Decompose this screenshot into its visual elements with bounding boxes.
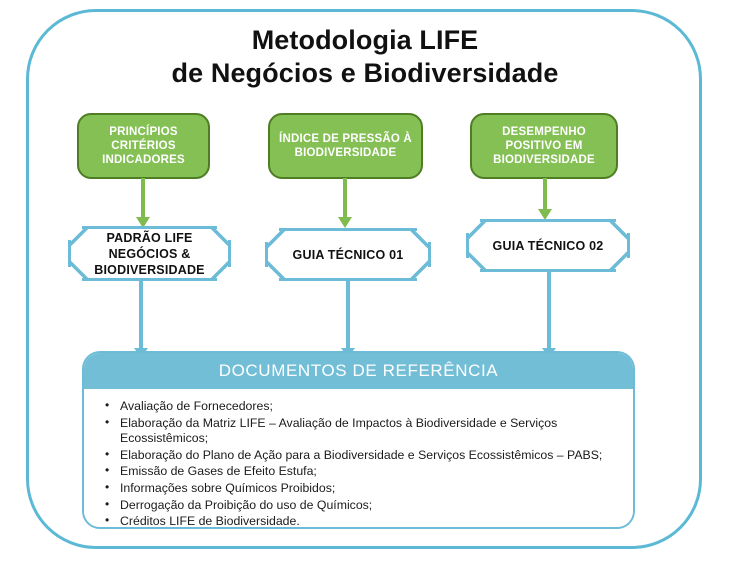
list-item: Informações sobre Químicos Proibidos; — [98, 481, 619, 497]
document-1-line-1: PADRÃO LIFE — [107, 231, 193, 245]
document-box-1-text: PADRÃO LIFE NEGÓCIOS & BIODIVERSIDADE — [78, 230, 220, 278]
title-line-2: de Negócios e Biodiversidade — [40, 57, 690, 90]
pillar-box-principios-text: PRINCÍPIOS CRITÉRIOS INDICADORES — [102, 125, 185, 167]
arrow-down-blue-2-icon — [346, 281, 350, 349]
pillar-box-indice-pressao-text: ÍNDICE DE PRESSÃO À BIODIVERSIDADE — [279, 132, 412, 160]
arrow-down-blue-1-icon — [139, 281, 143, 349]
reference-documents-header: DOCUMENTOS DE REFERÊNCIA — [84, 353, 633, 389]
pillar-1-line-1: PRINCÍPIOS — [109, 126, 177, 138]
reference-documents-list: Avaliação de Fornecedores; Elaboração da… — [98, 399, 619, 529]
reference-documents-body: Avaliação de Fornecedores; Elaboração da… — [84, 389, 633, 529]
document-1-line-2: NEGÓCIOS & — [109, 247, 191, 261]
pillar-2-line-1: ÍNDICE DE PRESSÃO À — [279, 133, 412, 145]
pillar-box-desempenho-positivo[interactable]: DESEMPENHO POSITIVO EM BIODIVERSIDADE — [470, 113, 618, 179]
pillar-3-line-2: POSITIVO EM — [506, 140, 583, 152]
list-item: Créditos LIFE de Biodiversidade. — [98, 514, 619, 529]
arrow-down-green-1-icon — [141, 178, 145, 218]
list-item: Avaliação de Fornecedores; — [98, 399, 619, 415]
diagram-canvas: Metodologia LIFE de Negócios e Biodivers… — [0, 0, 734, 565]
pillar-3-line-3: BIODIVERSIDADE — [493, 154, 595, 166]
arrow-down-green-2-icon — [343, 178, 347, 218]
list-item: Derrogação da Proibição do uso de Químic… — [98, 498, 619, 514]
pillar-1-line-2: CRITÉRIOS — [111, 140, 175, 152]
document-box-guia-tecnico-01[interactable]: GUIA TÉCNICO 01 — [265, 228, 431, 281]
document-box-2-text: GUIA TÉCNICO 01 — [277, 247, 420, 263]
pillar-box-principios[interactable]: PRINCÍPIOS CRITÉRIOS INDICADORES — [77, 113, 210, 179]
document-1-line-3: BIODIVERSIDADE — [94, 263, 204, 277]
list-item: Elaboração do Plano de Ação para a Biodi… — [98, 448, 619, 464]
page-title: Metodologia LIFE de Negócios e Biodivers… — [40, 24, 690, 90]
pillar-box-desempenho-positivo-text: DESEMPENHO POSITIVO EM BIODIVERSIDADE — [493, 125, 595, 167]
title-line-1: Metodologia LIFE — [40, 24, 690, 57]
arrow-down-green-3-icon — [543, 178, 547, 210]
reference-documents-panel: DOCUMENTOS DE REFERÊNCIA Avaliação de Fo… — [82, 351, 635, 529]
list-item: Emissão de Gases de Efeito Estufa; — [98, 464, 619, 480]
document-box-padrao-life[interactable]: PADRÃO LIFE NEGÓCIOS & BIODIVERSIDADE — [68, 226, 231, 281]
pillar-box-indice-pressao[interactable]: ÍNDICE DE PRESSÃO À BIODIVERSIDADE — [268, 113, 423, 179]
pillar-1-line-3: INDICADORES — [102, 154, 185, 166]
pillar-3-line-1: DESEMPENHO — [502, 126, 586, 138]
pillar-2-line-2: BIODIVERSIDADE — [295, 147, 397, 159]
document-box-guia-tecnico-02[interactable]: GUIA TÉCNICO 02 — [466, 219, 630, 272]
arrow-down-blue-3-icon — [547, 272, 551, 349]
document-box-3-text: GUIA TÉCNICO 02 — [477, 238, 620, 254]
list-item: Elaboração da Matriz LIFE – Avaliação de… — [98, 416, 619, 447]
